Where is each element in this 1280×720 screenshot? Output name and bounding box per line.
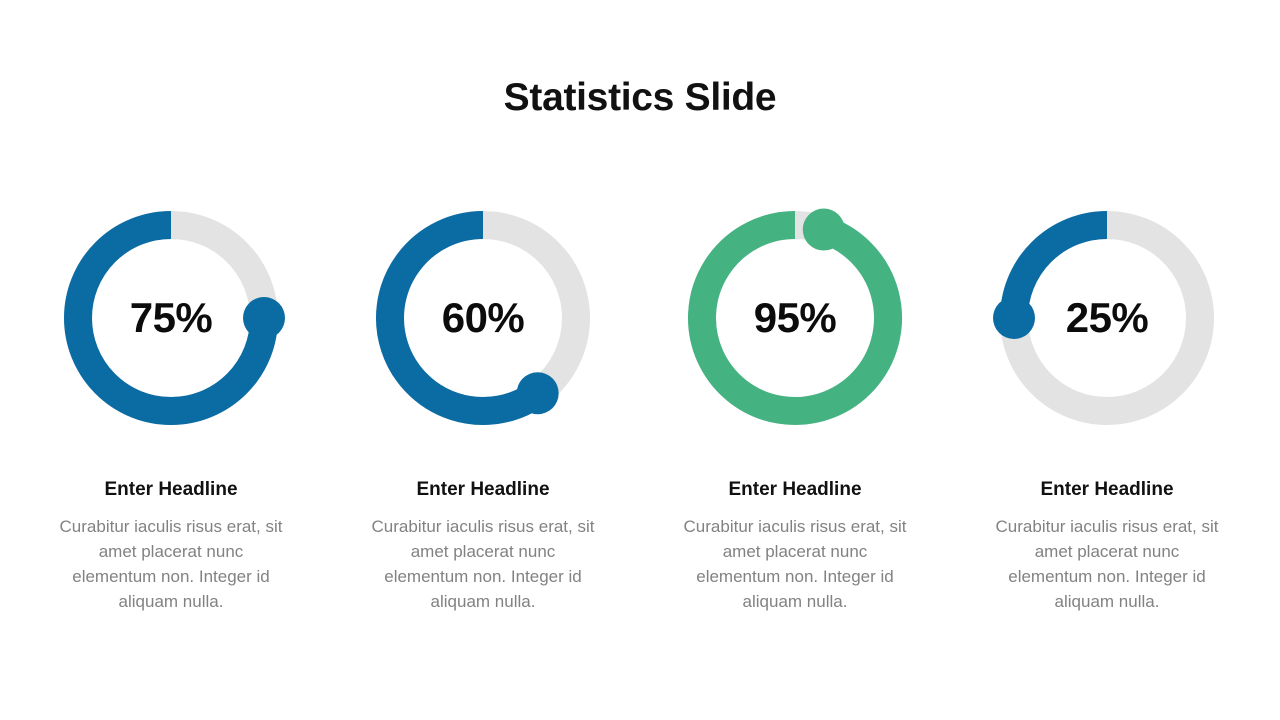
headline-2: Enter Headline	[416, 478, 549, 502]
donut-chart-1: 75%	[53, 200, 289, 436]
headline-3: Enter Headline	[728, 478, 861, 502]
donut-value-label-2: 60%	[365, 200, 601, 436]
stat-column-2: 60% Enter Headline Curabitur iaculis ris…	[327, 200, 639, 614]
donut-chart-2: 60%	[365, 200, 601, 436]
donut-value-label-3: 95%	[677, 200, 913, 436]
page-title: Statistics Slide	[0, 74, 1280, 122]
body-text-4: Curabitur iaculis risus erat, sit amet p…	[991, 514, 1223, 614]
stat-column-1: 75% Enter Headline Curabitur iaculis ris…	[15, 200, 327, 614]
body-text-3: Curabitur iaculis risus erat, sit amet p…	[679, 514, 911, 614]
donut-value-label-1: 75%	[53, 200, 289, 436]
body-text-1: Curabitur iaculis risus erat, sit amet p…	[55, 514, 287, 614]
stat-columns: 75% Enter Headline Curabitur iaculis ris…	[0, 200, 1280, 614]
headline-4: Enter Headline	[1040, 478, 1173, 502]
statistics-slide: Statistics Slide 75% Enter Headline Cura…	[0, 0, 1280, 720]
donut-chart-4: 25%	[989, 200, 1225, 436]
donut-chart-3: 95%	[677, 200, 913, 436]
stat-column-4: 25% Enter Headline Curabitur iaculis ris…	[951, 200, 1263, 614]
stat-column-3: 95% Enter Headline Curabitur iaculis ris…	[639, 200, 951, 614]
body-text-2: Curabitur iaculis risus erat, sit amet p…	[367, 514, 599, 614]
headline-1: Enter Headline	[104, 478, 237, 502]
donut-value-label-4: 25%	[989, 200, 1225, 436]
